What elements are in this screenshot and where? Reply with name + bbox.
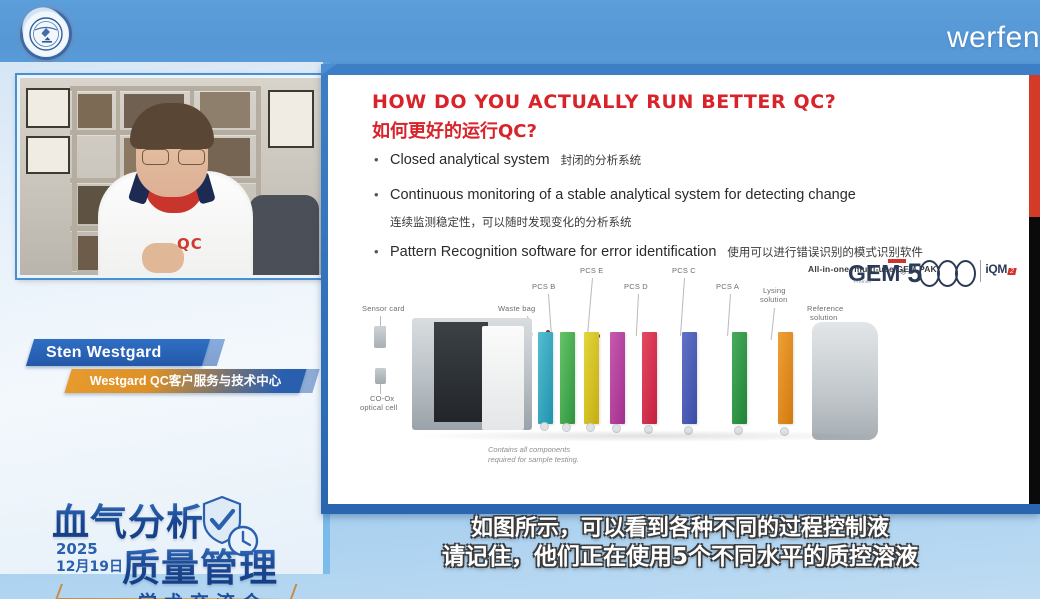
leader-line [771,308,775,340]
sensor-card-part [374,326,386,348]
bullet-item: • Closed analytical system 封闭的分析系统 [374,151,1004,170]
footnote-line1: Contains all components [488,445,579,455]
leader-line [587,278,593,336]
bullet-text-en: Closed analytical system [390,151,550,169]
bullet-marker: • [374,151,390,169]
iqm-wordmark: iQM [985,262,1007,276]
bullet-text-en: Pattern Recognition software for error i… [390,243,716,261]
footnote-line2: required for sample testing. [488,455,579,465]
caption-line-2: 请记住，他们正在使用5个不同水平的质控溶液 [330,543,1030,571]
event-day: 12月19日 [56,560,123,575]
werfen-brand-logo: werfen [947,21,1040,55]
gem-5000-product-logo: GEM® Premier 5 iQM2 [848,260,1016,290]
gem-model-number: 5 [907,260,976,287]
waste-bag-part [482,326,524,430]
gem-subtext: Premier [854,279,872,284]
slide-black-accent-strip [1029,217,1040,504]
label-co-ox: CO-Ox [370,394,394,403]
cartridge-pcs [642,332,657,424]
cartridge-pcs [682,332,697,424]
cartridge-reference [778,332,793,424]
slide-subtitle: 如何更好的运行QC? [372,117,537,143]
wall-frame [26,136,70,174]
cartridge-pcs [560,332,575,424]
presentation-slide-frame: HOW DO YOU ACTUALLY RUN BETTER QC? 如何更好的… [321,64,1040,514]
label-waste-bag: Waste bag [498,304,535,313]
label-lysing-solution: solution [760,295,787,304]
speaker-role: Westgard QC客户服务与技术中心 [68,369,303,393]
speaker-role-banner: Westgard QC客户服务与技术中心 [64,369,306,393]
bullet-marker: • [374,186,390,204]
shelf-post [72,86,77,271]
label-lysing: Lysing [763,286,786,295]
left-sidebar-panel: QC Sten Westgard Westgard QC客户服务与技术中心 血气… [0,62,330,574]
event-divider [58,584,308,586]
speaker-name: Sten Westgard [30,339,206,366]
microscope-icon [29,17,63,51]
shelf [70,86,260,91]
slide-title: HOW DO YOU ACTUALLY RUN BETTER QC? [372,91,836,113]
leader-line [680,278,685,336]
analyzer-interior [434,322,488,422]
event-logo: 血气分析 2025 12月19日 质量管理 学术交流会 [40,492,302,599]
leader-line [380,384,381,394]
bullet-note-cn: 连续监测稳定性，可以随时发现变化的分析系统 [390,214,1004,230]
video-player-stage: werfen [0,0,1040,599]
caption-line-1: 如图所示，可以看到各种不同的过程控制液 [330,515,1030,543]
subtitle-caption: 如图所示，可以看到各种不同的过程控制液 请记住，他们正在使用5个不同水平的质控溶… [330,515,1030,571]
leader-line [636,294,639,336]
event-date: 2025 12月19日 [56,542,123,575]
logo-divider [980,260,981,282]
iqm-badge: 2 [1007,268,1016,275]
presentation-slide[interactable]: HOW DO YOU ACTUALLY RUN BETTER QC? 如何更好的… [328,75,1040,504]
speaker-webcam-video[interactable]: QC [17,75,328,278]
cartridge-lysing [732,332,747,424]
event-subtitle: 学术交流会 [138,588,268,599]
label-pcs-c: PCS C [672,266,696,275]
cartridge-pcs [538,332,553,424]
qc-jacket-badge: QC [177,235,203,253]
bullet-text-cn: 封闭的分析系统 [561,151,642,170]
glasses-icon [142,149,204,163]
wall-frame [26,88,70,128]
diagram-footnote: Contains all components required for sam… [488,445,579,465]
bullet-text-en: Continuous monitoring of a stable analyt… [390,186,856,204]
organization-emblem-logo [18,6,74,62]
leader-line [727,294,731,336]
label-reference: Reference [807,304,843,313]
event-year: 2025 [56,540,98,558]
speaker-name-banner: Sten Westgard [26,339,210,366]
analyzer-end-cap [812,322,878,440]
label-pcs-b: PCS B [532,282,556,291]
cartridge-pcs [584,332,599,424]
top-header-band: werfen [0,0,1040,70]
label-pcs-e: PCS E [580,266,604,275]
gem-pak-product-diagram: All-in-one, multi-use GEM PAK GEM® Premi… [342,260,1028,500]
label-pcs-a: PCS A [716,282,739,291]
cartridge-pcs [610,332,625,424]
slide-red-accent-strip [1029,75,1040,217]
co-ox-optical-cell-part [375,368,386,384]
label-pcs-d: PCS D [624,282,648,291]
label-optical-cell: optical cell [360,403,397,412]
wall-frame [268,90,314,148]
bullet-item: • Continuous monitoring of a stable anal… [374,186,1004,204]
gem-red-bar [888,259,906,263]
label-sensor-card: Sensor card [362,304,405,313]
books [78,94,112,128]
gem-trademark: ® [900,268,906,277]
diagram-shadow [412,430,882,442]
office-chair [249,195,319,275]
label-reference-solution: solution [810,313,837,322]
bullet-marker: • [374,243,390,261]
